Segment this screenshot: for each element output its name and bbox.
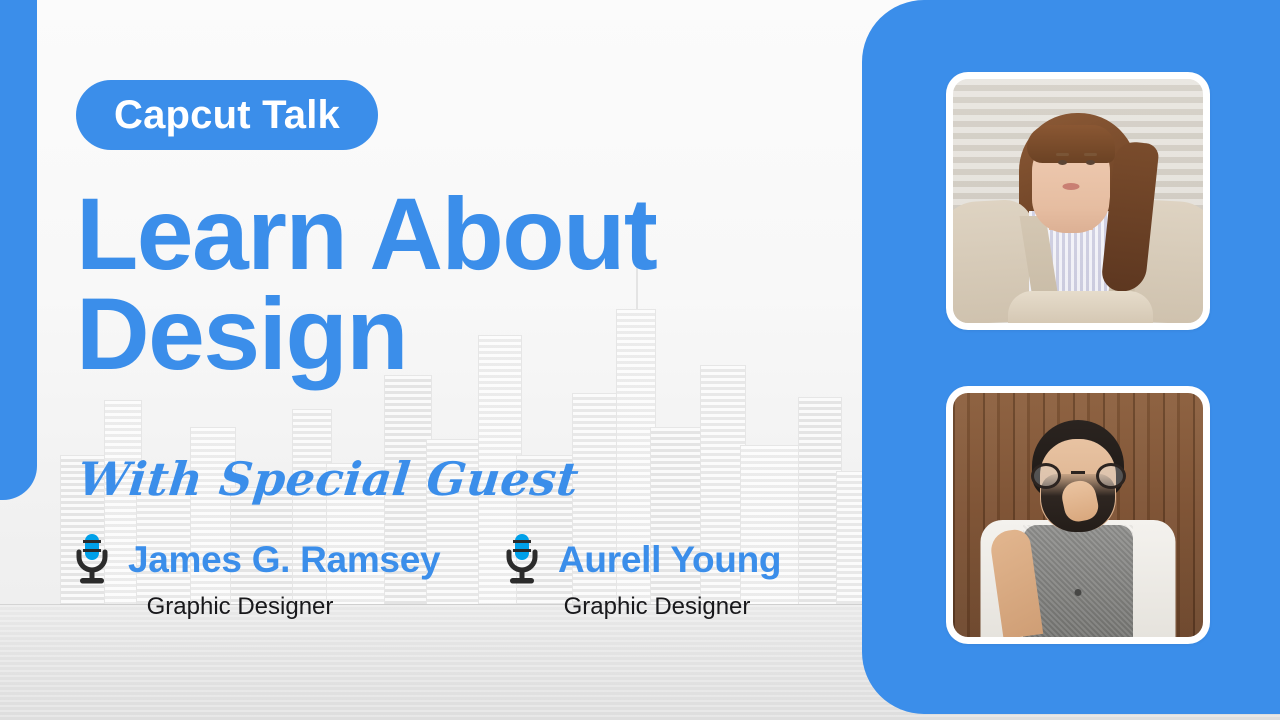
speaker-item: James G. Ramsey Graphic Designer xyxy=(70,532,470,621)
speaker-name: Aurell Young xyxy=(558,539,781,581)
photo1-lips xyxy=(1062,183,1079,190)
photo1-fringe xyxy=(1027,125,1115,163)
speaker-name-row: James G. Ramsey xyxy=(70,532,470,588)
photo1-eyebrow-left xyxy=(1056,153,1069,156)
photo2-vest-button xyxy=(1075,589,1082,596)
capcut-talk-badge[interactable]: Capcut Talk xyxy=(76,80,378,150)
speaker-photo-frame-2 xyxy=(946,386,1210,644)
photo2-glasses-left-lens xyxy=(1031,463,1061,489)
speaker-photo-frame-1 xyxy=(946,72,1210,330)
speaker-role: Graphic Designer xyxy=(500,593,860,621)
guest-label: With Special Guest xyxy=(75,452,581,506)
page-title: Learn About Design xyxy=(76,185,796,385)
headline-line-1: Learn About xyxy=(76,185,796,285)
speaker-photo-1 xyxy=(953,79,1203,323)
badge-label: Capcut Talk xyxy=(114,93,340,138)
photo2-glasses-bridge xyxy=(1071,471,1085,474)
speaker-name-row: Aurell Young xyxy=(500,532,860,588)
poster-canvas: Capcut Talk Learn About Design With Spec… xyxy=(0,0,1280,720)
speaker-role: Graphic Designer xyxy=(70,593,470,621)
speaker-item: Aurell Young Graphic Designer xyxy=(500,532,860,621)
speaker-name: James G. Ramsey xyxy=(128,539,440,581)
speaker-photo-2 xyxy=(953,393,1203,637)
headline-line-2: Design xyxy=(76,285,796,385)
left-accent-bar xyxy=(0,0,37,500)
photo2-glasses-right-lens xyxy=(1096,463,1126,489)
microphone-icon xyxy=(500,532,544,588)
photo1-eye-left xyxy=(1058,160,1067,165)
microphone-icon xyxy=(70,532,114,588)
photo1-eyebrow-right xyxy=(1084,153,1097,156)
photo1-eye-right xyxy=(1086,160,1095,165)
photo1-folded-arms xyxy=(1008,291,1153,323)
